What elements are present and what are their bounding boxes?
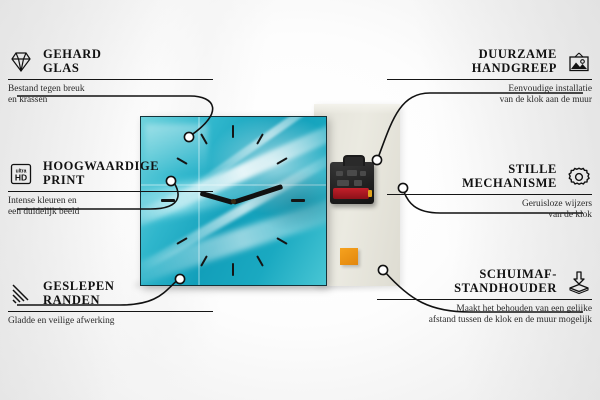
clock-mechanism — [330, 162, 374, 204]
clock-tick — [291, 199, 305, 202]
callout-divider — [387, 79, 592, 80]
hanger-hook-icon — [343, 155, 365, 166]
callout-divider — [377, 299, 592, 300]
clock-tick — [200, 133, 208, 144]
callout-subtitle-line1: Bestand tegen breuk — [8, 84, 213, 95]
callout-header: GESLEPEN RANDEN — [8, 280, 213, 307]
mechanism-detail — [360, 171, 366, 176]
callout-subtitle-line2: van de klok — [387, 210, 592, 221]
clock-tick — [200, 255, 208, 266]
callout-title: GESLEPEN RANDEN — [43, 280, 115, 307]
callout-subtitle-line1: Maakt het behouden van een gelijke — [377, 304, 592, 315]
mechanism-detail — [347, 170, 357, 176]
callout-subtitle-line2: een duidelijk beeld — [8, 207, 213, 218]
callout-subtitle-line1: Geruisloze wijzers — [387, 199, 592, 210]
picture-frame-hanger-icon — [566, 50, 592, 74]
infographic-canvas: GEHARD GLAS Bestand tegen breuk en krass… — [0, 0, 600, 400]
callout-subtitle-line1: Eenvoudige installatie — [387, 84, 592, 95]
glass-shade — [243, 167, 327, 234]
foam-spacer-icon — [566, 270, 592, 294]
callout-stille-mechanisme[interactable]: STILLE MECHANISME Geruisloze wijzers van… — [387, 163, 592, 222]
clock-battery — [333, 188, 369, 199]
callout-title: DUURZAME HANDGREEP — [472, 48, 557, 75]
callout-header: STILLE MECHANISME — [387, 163, 592, 190]
callout-title: GEHARD GLAS — [43, 48, 101, 75]
callout-header: SCHUIMAF- STANDHOUDER — [377, 268, 592, 295]
mechanism-detail — [337, 180, 349, 186]
mechanism-detail — [336, 171, 343, 176]
callout-hoogwaardige-print[interactable]: ultra HD HOOGWAARDIGE PRINT Intense kleu… — [8, 160, 213, 219]
clock-tick — [232, 125, 234, 138]
callout-title: HOOGWAARDIGE PRINT — [43, 160, 159, 187]
clock-pivot — [231, 199, 236, 204]
callout-divider — [8, 79, 213, 80]
callout-title: SCHUIMAF- STANDHOUDER — [454, 268, 557, 295]
callout-subtitle-line1: Intense kleuren en — [8, 196, 213, 207]
svg-text:HD: HD — [15, 172, 27, 182]
ground-edges-icon — [8, 282, 34, 306]
ultra-hd-icon: ultra HD — [8, 162, 34, 186]
callout-subtitle-line2: van de klok aan de muur — [387, 95, 592, 106]
callout-subtitle-line1: Gladde en veilige afwerking — [8, 316, 213, 327]
callout-header: GEHARD GLAS — [8, 48, 213, 75]
callout-geslepen-randen[interactable]: GESLEPEN RANDEN Gladde en veilige afwerk… — [8, 280, 213, 327]
callout-divider — [8, 191, 213, 192]
clock-tick — [232, 263, 234, 276]
callout-divider — [387, 194, 592, 195]
callout-title: STILLE MECHANISME — [462, 163, 557, 190]
callout-schuimaf-standhouder[interactable]: SCHUIMAF- STANDHOUDER Maakt het behouden… — [377, 268, 592, 327]
callout-divider — [8, 311, 213, 312]
clock-tick — [256, 255, 264, 266]
callout-gehard-glas[interactable]: GEHARD GLAS Bestand tegen breuk en krass… — [8, 48, 213, 107]
clock-tick — [256, 133, 264, 144]
clock-tick — [176, 237, 187, 245]
diamond-icon — [8, 50, 34, 74]
clock-tick — [276, 157, 287, 165]
foam-spacer-pad — [340, 248, 358, 265]
callout-subtitle-line2: afstand tussen de klok en de muur mogeli… — [377, 315, 592, 326]
callout-subtitle-line2: en krassen — [8, 95, 213, 106]
gear-icon — [566, 165, 592, 189]
callout-header: DUURZAME HANDGREEP — [387, 48, 592, 75]
callout-duurzame-handgreep[interactable]: DUURZAME HANDGREEP Eenvoudige installati… — [387, 48, 592, 107]
clock-minute-hand — [232, 184, 283, 205]
mechanism-detail — [354, 180, 362, 186]
callout-header: ultra HD HOOGWAARDIGE PRINT — [8, 160, 213, 187]
clock-tick — [276, 237, 287, 245]
